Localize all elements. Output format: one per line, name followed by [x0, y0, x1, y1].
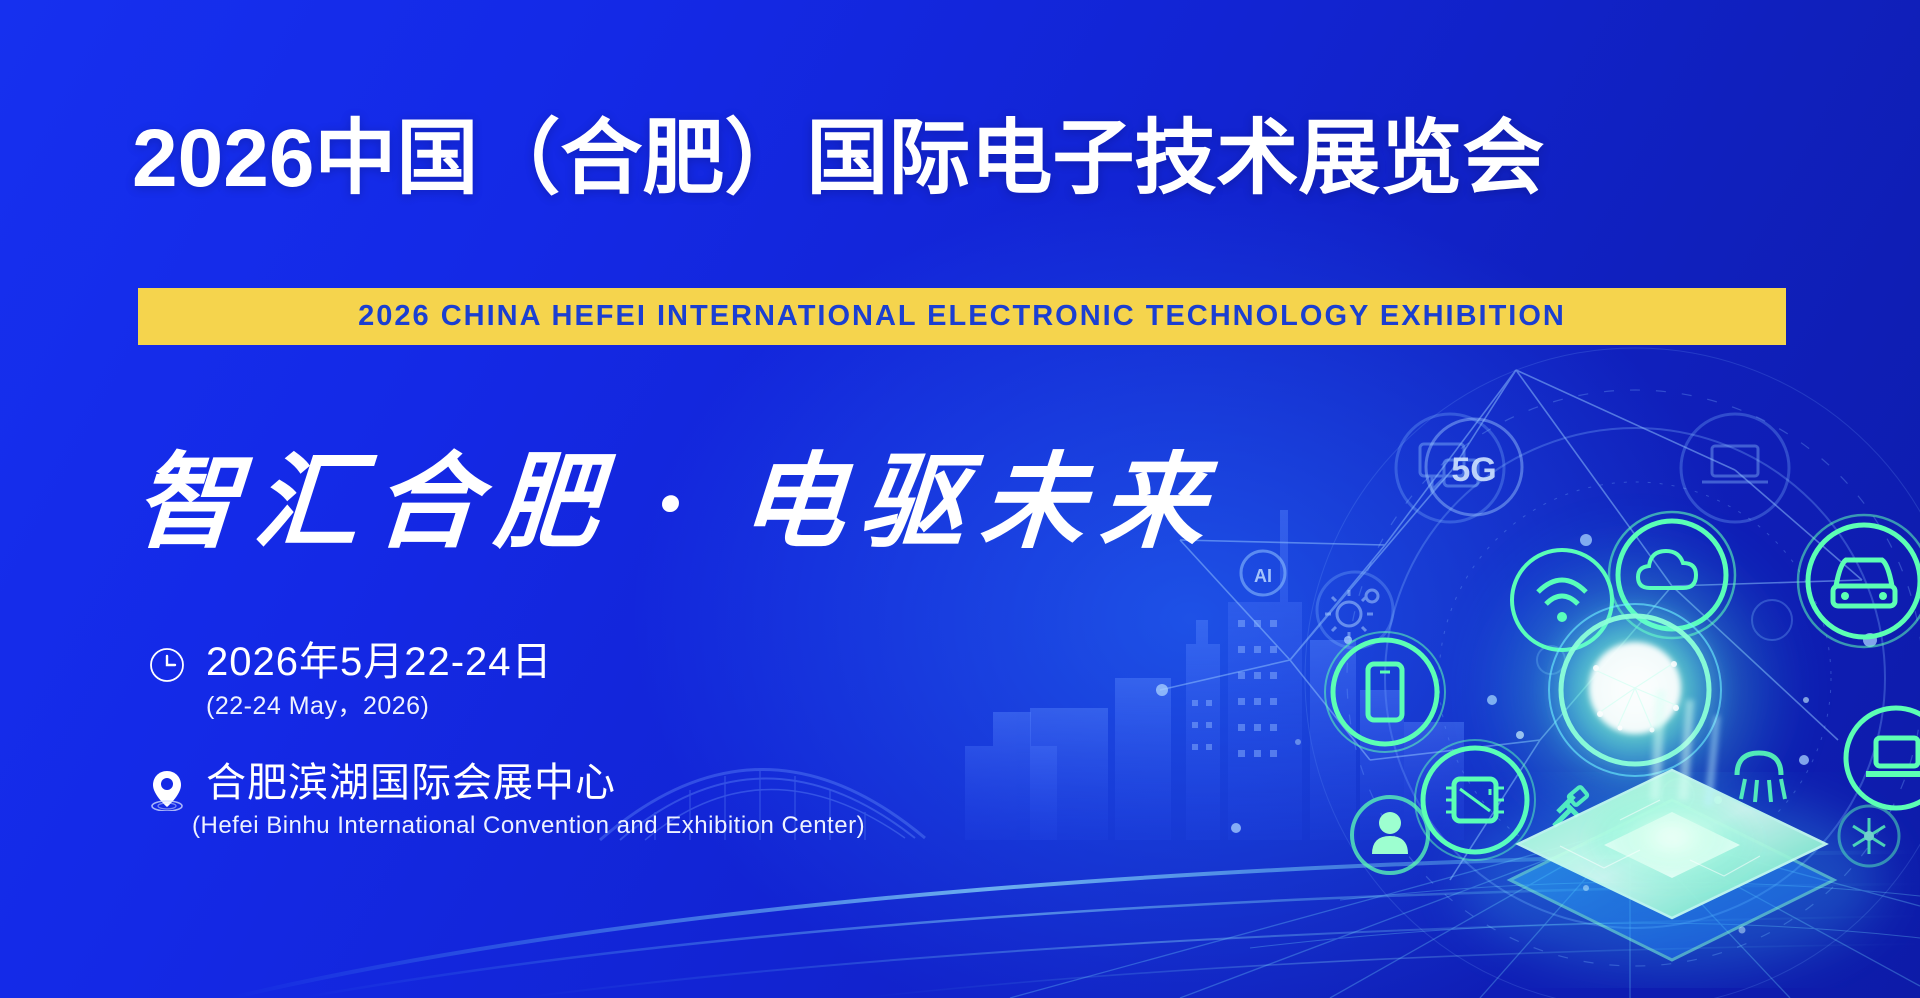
date-primary: 2026年5月22-24日: [206, 640, 865, 685]
date-row: 2026年5月22-24日 (22-24 May，2026): [148, 640, 865, 721]
slogan-calligraphy: 智汇合肥 · 电驱未来: [140, 430, 1260, 570]
slogan-text: 智汇合肥 · 电驱未来: [140, 445, 1225, 561]
date-secondary: (22-24 May，2026): [206, 691, 865, 721]
map-pin-icon: [148, 767, 188, 811]
english-title-bar: 2026 CHINA HEFEI INTERNATIONAL ELECTRONI…: [138, 288, 1786, 345]
event-banner: 5G AI: [0, 0, 1920, 998]
slogan-svg: 智汇合肥 · 电驱未来: [140, 430, 1260, 570]
clock-icon: [148, 646, 188, 690]
venue-primary: 合肥滨湖国际会展中心: [206, 761, 865, 806]
venue-row: 合肥滨湖国际会展中心 (Hefei Binhu International Co…: [148, 761, 865, 841]
english-title: 2026 CHINA HEFEI INTERNATIONAL ELECTRONI…: [358, 300, 1566, 333]
page-title: 2026中国（合肥）国际电子技术展览会: [132, 118, 1544, 200]
event-details: 2026年5月22-24日 (22-24 May，2026) 合肥滨湖国际会展中…: [148, 640, 865, 880]
venue-secondary: (Hefei Binhu International Convention an…: [192, 812, 865, 841]
banner-content: 2026中国（合肥）国际电子技术展览会 2026 CHINA HEFEI INT…: [0, 0, 1920, 998]
